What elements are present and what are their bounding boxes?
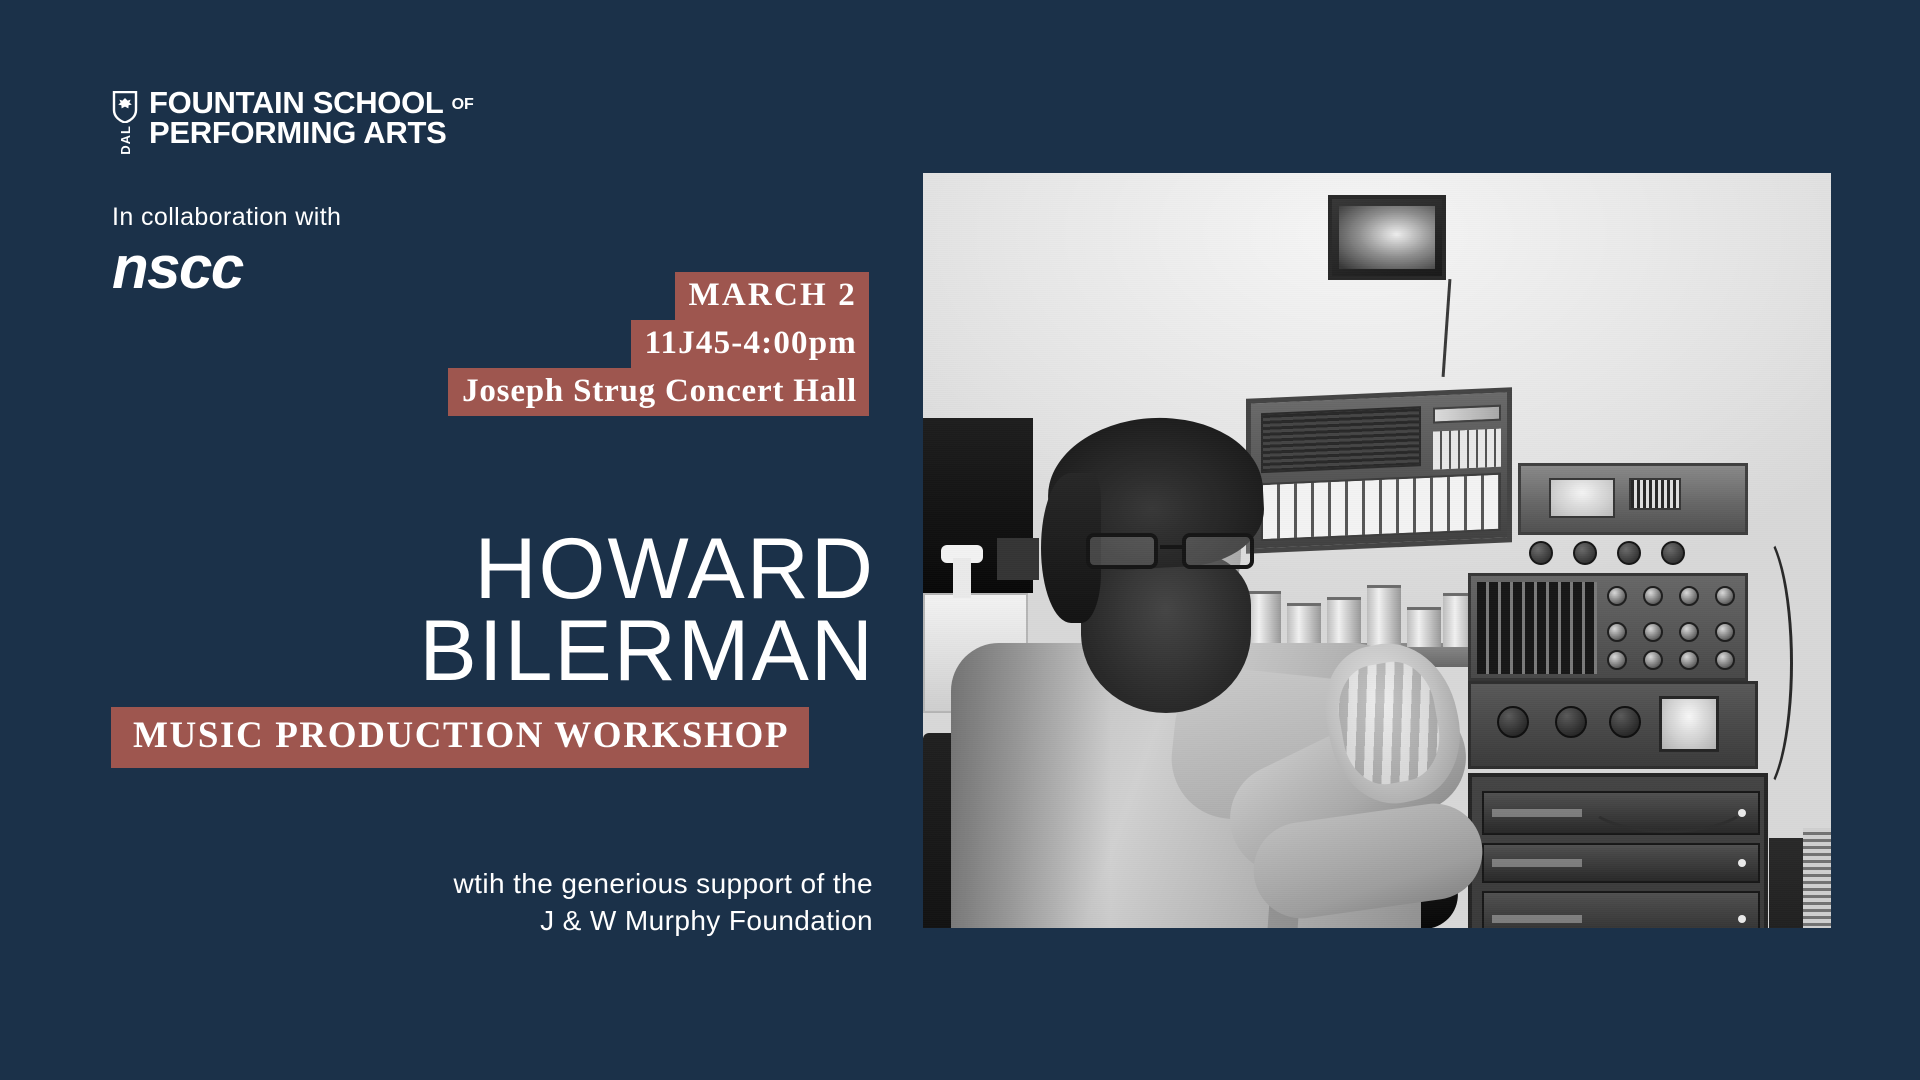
event-date: MARCH 2 [675,272,869,320]
school-name-of: OF [452,96,474,114]
school-name-line2: PERFORMING ARTS [149,118,474,148]
event-details-block: MARCH 2 11J45-4:00pm Joseph Strug Concer… [448,272,869,416]
school-name-group: FOUNTAIN SCHOOL OF PERFORMING ARTS [149,88,474,148]
eyeglass-bridge [1160,545,1182,549]
seated-person [923,173,1831,928]
crest-dal-label: DAL [119,125,132,155]
collaboration-intro: In collaboration with [112,203,341,232]
presenter-first-name: HOWARD [419,529,875,611]
support-credit-line2: J & W Murphy Foundation [454,903,873,940]
event-venue: Joseph Strug Concert Hall [448,368,869,416]
workshop-title-banner: MUSIC PRODUCTION WORKSHOP [111,707,809,768]
presenter-name: HOWARD BILERMAN [419,529,875,692]
presenter-photo [923,173,1831,928]
nscc-logo-wordmark: nscc [112,238,243,298]
presenter-last-name: BILERMAN [419,611,875,693]
school-name-line1: FOUNTAIN SCHOOL [149,88,444,118]
eyeglass-lens-right [1182,533,1254,569]
person-eyeglasses [1086,533,1266,569]
poster-canvas: DAL FOUNTAIN SCHOOL OF PERFORMING ARTS I… [0,0,1920,1080]
dalhousie-shield-icon [112,91,138,123]
support-credit: wtih the generious support of the J & W … [454,866,873,940]
fountain-school-logo: DAL FOUNTAIN SCHOOL OF PERFORMING ARTS [110,88,474,155]
eyeglass-lens-left [1086,533,1158,569]
event-time: 11J45-4:00pm [631,320,869,368]
support-credit-line1: wtih the generious support of the [454,866,873,903]
person-beard [1081,553,1251,713]
person-shirt-shadow [951,643,1111,928]
crest-group: DAL [110,88,140,155]
